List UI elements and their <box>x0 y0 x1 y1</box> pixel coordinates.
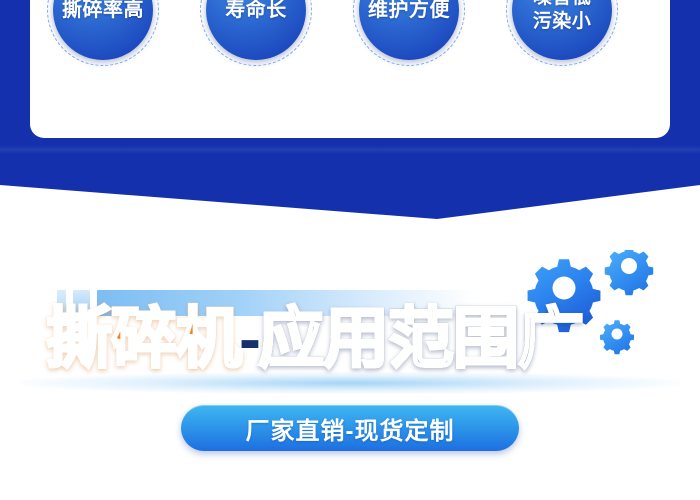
top-blue-panel: 撕碎率高 寿命长 维护方便 噪音低 污染小 <box>0 0 700 220</box>
feature-bubble-1[interactable]: 撕碎率高 <box>47 0 159 66</box>
page-title-separator: - <box>239 300 260 376</box>
feature-bubble-2[interactable]: 寿命长 <box>200 0 312 66</box>
feature-bubble-label: 寿命长 <box>221 0 291 23</box>
title-section: 撕碎机-应用范围广 <box>0 240 700 500</box>
page-title-rest: 应用范围广 <box>258 300 583 376</box>
page-title-highlight: 撕碎机 <box>46 300 241 376</box>
gear-icon-medium <box>605 250 653 295</box>
cta-button-label: 厂家直销-现货定制 <box>246 411 455 446</box>
feature-bubble-label: 维护方便 <box>364 0 454 23</box>
cta-button[interactable]: 厂家直销-现货定制 <box>181 405 519 451</box>
feature-bubble-3[interactable]: 维护方便 <box>353 0 465 66</box>
feature-bubble-label: 噪音低 污染小 <box>529 0 596 34</box>
title-glow-decor <box>20 372 680 394</box>
feature-bubble-label: 撕碎率高 <box>58 0 148 23</box>
feature-bubble-4[interactable]: 噪音低 污染小 <box>506 0 618 66</box>
page-title: 撕碎机-应用范围广 <box>46 300 686 376</box>
